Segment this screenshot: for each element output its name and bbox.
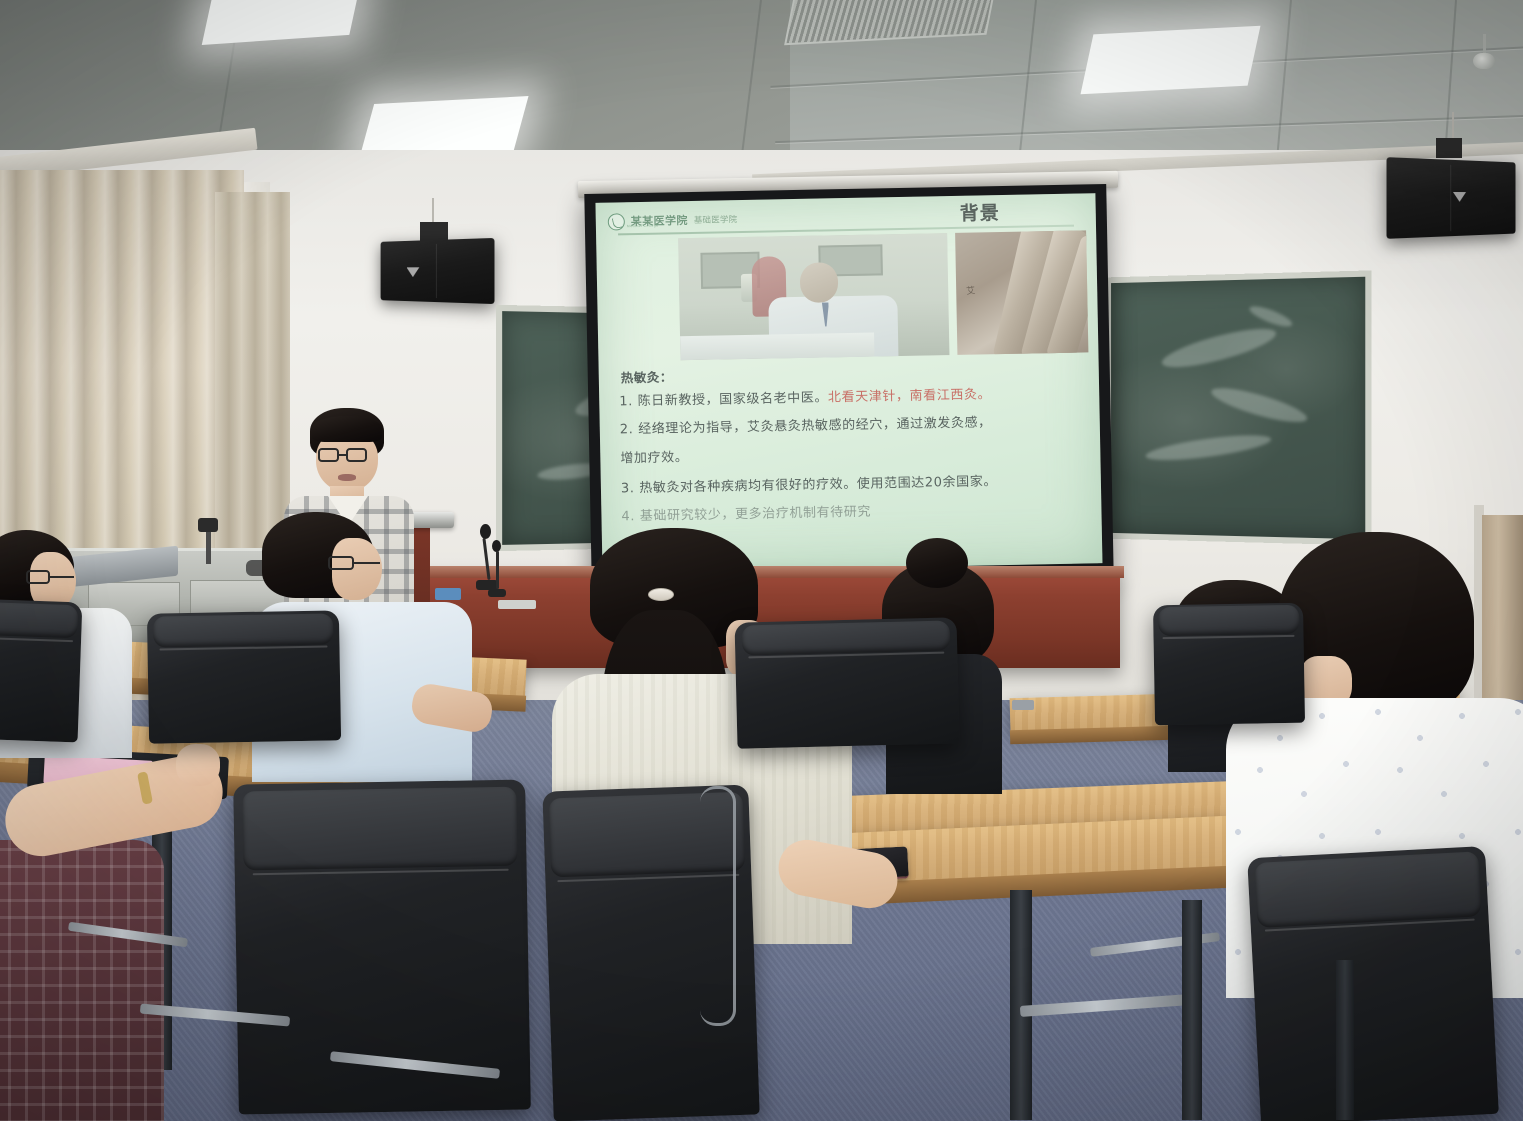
speaker-left-wire — [432, 198, 434, 224]
wall-speaker-right — [1387, 157, 1516, 239]
bullet-2-text: 经络理论为指导，艾灸悬灸热敏感的经穴，通过激发灸感， — [638, 416, 992, 438]
attendee-left-front-hand — [176, 744, 220, 786]
attendee-left-blue-glasses — [328, 556, 384, 572]
desk-clip — [1012, 700, 1034, 710]
cart-camera-head — [198, 518, 218, 532]
bullet-2-cont-text: 增加疗效。 — [620, 450, 688, 466]
podium-blue-device — [435, 588, 461, 600]
bullet-3-num: 3. — [621, 481, 635, 496]
cart-camera-arm — [206, 528, 211, 564]
bullet-1-highlight: 北看天津针，南看江西灸。 — [828, 387, 991, 405]
table-leg-right-2 — [1336, 960, 1354, 1120]
projection-screen-frame: 某某医学院 基础医学院 Medical College 背景 — [584, 184, 1113, 586]
slide-title: 背景 — [959, 198, 1000, 226]
slide-lead-text: 热敏灸： — [621, 358, 1089, 386]
hair-scrunchie — [648, 588, 674, 601]
projection-screen: 某某医学院 基础医学院 Medical College 背景 — [595, 193, 1102, 573]
smoke-detector — [1473, 53, 1495, 69]
slide-bullet-1: 1. 陈日新教授，国家级名老中医。北看天津针，南看江西灸。 — [619, 386, 1089, 409]
slide-image-row: 艾 — [678, 230, 1088, 360]
platform-top-edge — [396, 566, 1124, 578]
chair-center-front-rail — [700, 786, 736, 1026]
slide-bullet-3: 3. 热敏灸对各种疾病均有很好的疗效。使用范围达20余国家。 — [621, 473, 1091, 496]
chair-right-front[interactable] — [1247, 846, 1499, 1121]
attendee-left-back-glasses — [26, 570, 78, 586]
slide-bullet-2-cont: 增加疗效。 — [620, 443, 1090, 466]
presentation-slide: 某某医学院 基础医学院 Medical College 背景 — [595, 193, 1102, 573]
slide-institution-english: Medical College — [627, 224, 659, 229]
presenter-glasses — [318, 448, 378, 464]
bullet-3-text: 热敏灸对各种疾病均有很好的疗效。使用范围达20余国家。 — [639, 474, 997, 496]
slide-bullet-2: 2. 经络理论为指导，艾灸悬灸热敏感的经穴，通过激发灸感， — [620, 415, 1090, 438]
wall-speaker-left — [381, 238, 495, 304]
slide-body: 热敏灸： 1. 陈日新教授，国家级名老中医。北看天津针，南看江西灸。 2. 经络… — [611, 358, 1092, 525]
presenter-mouth — [338, 474, 356, 481]
podium-remote — [498, 600, 536, 609]
bullet-1-text: 陈日新教授，国家级名老中医。 — [637, 390, 828, 409]
classroom-photo: 某某医学院 基础医学院 Medical College 背景 — [0, 0, 1523, 1121]
speaker-right-bracket — [1436, 138, 1462, 158]
bullet-4-num: 4. — [621, 509, 635, 524]
slide-photo-moxa-sticks: 艾 — [955, 230, 1088, 354]
attendee-left-front-skirt — [0, 840, 164, 1121]
slide-header: 某某医学院 基础医学院 Medical College 背景 — [608, 199, 1086, 234]
university-logo-icon — [608, 213, 625, 230]
ceiling-light-3 — [1080, 26, 1260, 95]
ceiling-light-2 — [359, 96, 528, 158]
hair-bun — [906, 538, 968, 588]
presenter-fringe — [312, 416, 382, 442]
chalkboard-right — [1105, 270, 1371, 545]
chair-foreground-left[interactable] — [0, 598, 82, 743]
chair-right-mid[interactable] — [1153, 603, 1305, 726]
slide-bullet-4: 4. 基础研究较少，更多治疗机制有待研究 — [621, 502, 1091, 525]
chair-center-mid[interactable] — [734, 617, 959, 748]
bullet-4-text: 基础研究较少，更多治疗机制有待研究 — [640, 505, 871, 524]
chair-back-left[interactable] — [147, 610, 341, 743]
bullet-1-num: 1. — [619, 394, 633, 409]
bullet-2-num: 2. — [620, 422, 634, 437]
table-leg-right — [1182, 900, 1202, 1120]
slide-institution-sub: 基础医学院 — [694, 213, 738, 226]
slide-photo-clinic — [678, 233, 949, 360]
